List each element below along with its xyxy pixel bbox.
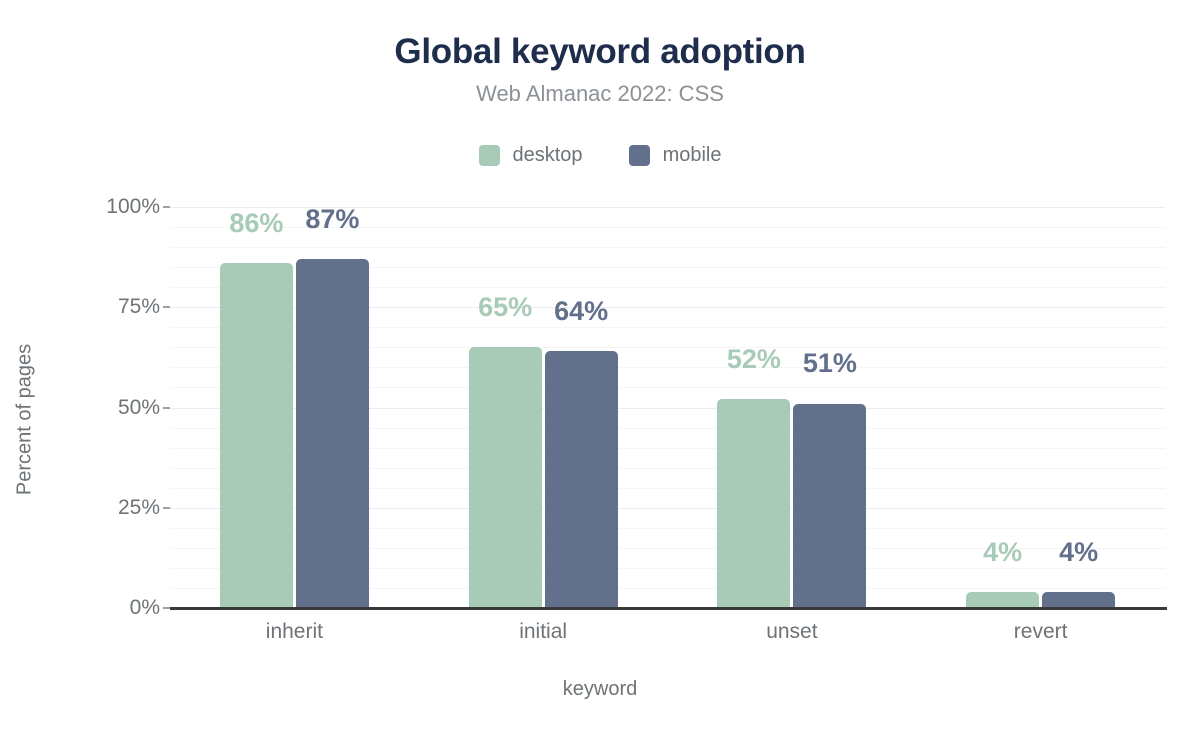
bar-inherit-desktop[interactable] xyxy=(220,263,293,608)
gridline-minor xyxy=(170,247,1165,248)
bar-inherit-mobile[interactable] xyxy=(296,259,369,608)
y-axis-tick-label: 0% xyxy=(0,596,160,620)
bar-value-label-inherit-desktop: 86% xyxy=(229,208,283,239)
bar-value-label-initial-desktop: 65% xyxy=(478,292,532,323)
bar-value-label-inherit-mobile: 87% xyxy=(305,204,359,235)
y-axis-tick-mark xyxy=(163,607,170,609)
x-axis-tick-label-unset: unset xyxy=(766,620,817,644)
bar-value-label-initial-mobile: 64% xyxy=(554,296,608,327)
bar-unset-desktop[interactable] xyxy=(717,399,790,608)
x-axis-title: keyword xyxy=(0,678,1200,701)
bar-initial-desktop[interactable] xyxy=(469,347,542,608)
bar-value-label-unset-desktop: 52% xyxy=(727,344,781,375)
bar-value-label-unset-mobile: 51% xyxy=(803,348,857,379)
y-axis-tick-label: 75% xyxy=(0,295,160,319)
bar-revert-desktop[interactable] xyxy=(966,592,1039,608)
y-axis-tick-mark xyxy=(163,306,170,308)
bar-revert-mobile[interactable] xyxy=(1042,592,1115,608)
bar-value-label-revert-mobile: 4% xyxy=(1059,537,1098,568)
plot-area: 86%87%65%64%52%51%4%4% xyxy=(170,207,1165,608)
y-axis-tick-mark xyxy=(163,507,170,509)
bar-unset-mobile[interactable] xyxy=(793,404,866,609)
x-axis-tick-label-initial: initial xyxy=(519,620,567,644)
x-axis-tick-label-revert: revert xyxy=(1014,620,1068,644)
y-axis-tick-label: 50% xyxy=(0,396,160,420)
y-axis-tick-label: 25% xyxy=(0,496,160,520)
y-axis-tick-mark xyxy=(163,206,170,208)
x-axis-baseline xyxy=(170,607,1167,610)
chart-plot: Percent of pages 86%87%65%64%52%51%4%4% … xyxy=(0,0,1200,742)
bar-value-label-revert-desktop: 4% xyxy=(983,537,1022,568)
y-axis-tick-mark xyxy=(163,407,170,409)
x-axis-tick-label-inherit: inherit xyxy=(266,620,323,644)
y-axis-tick-label: 100% xyxy=(0,195,160,219)
bar-initial-mobile[interactable] xyxy=(545,351,618,608)
